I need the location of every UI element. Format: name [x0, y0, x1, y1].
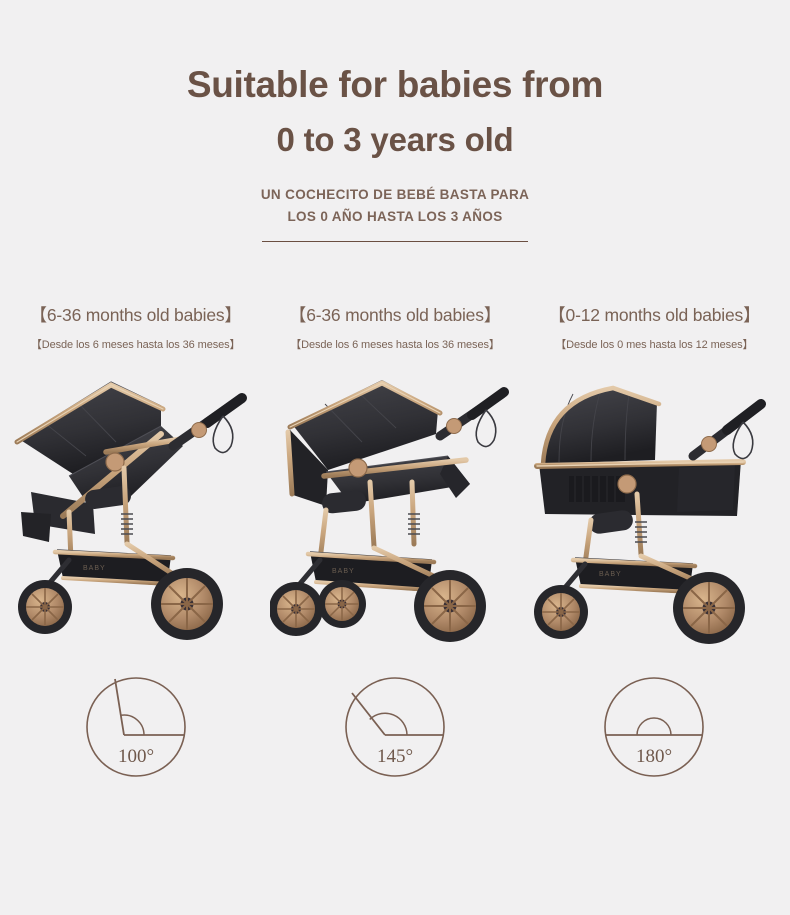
column-subtitle: 【Desde los 0 mes hasta los 12 meses】: [555, 336, 753, 352]
angle-label: 100°: [118, 746, 154, 767]
frame-hub: [349, 459, 367, 477]
mesh-window: [569, 476, 625, 502]
angle-diagram-180: 180°: [594, 667, 714, 787]
angle-diagrams: 100° 145° 180°: [0, 667, 790, 787]
wheel-rear: [151, 568, 223, 640]
handlebar: [693, 404, 761, 459]
wheel-front: [18, 580, 72, 634]
wheel-mid: [318, 580, 366, 628]
subtitle-line-2: LOS 0 AÑO HASTA LOS 3 AÑOS: [0, 206, 790, 228]
handlebar: [173, 398, 242, 453]
angle-arc: [637, 718, 671, 735]
angle-cell-3: 180°: [525, 667, 784, 787]
product-column-2: 【6-36 months old babies】 【Desde los 6 me…: [265, 302, 524, 649]
angle-diagram-100: 100°: [76, 667, 196, 787]
wheel-front: [270, 582, 323, 636]
handlebar-hub: [191, 422, 206, 437]
stroller-illustration-100: BABY: [11, 364, 261, 649]
angle-cell-1: 100°: [6, 667, 265, 787]
stroller-image-bassinet: BABY: [525, 364, 784, 649]
column-title: 【6-36 months old babies】: [30, 302, 242, 327]
svg-text:BABY: BABY: [83, 565, 106, 572]
header-divider: [262, 241, 528, 242]
product-column-1: 【6-36 months old babies】 【Desde los 6 me…: [6, 302, 265, 649]
headline-secondary: 0 to 3 years old: [0, 119, 790, 162]
stroller-illustration-145: BABY: [270, 364, 520, 649]
stroller-image-upright: BABY: [6, 364, 265, 649]
angle-label: 145°: [377, 746, 413, 767]
angle-cell-2: 145°: [265, 667, 524, 787]
column-subtitle: 【Desde los 6 meses hasta los 36 meses】: [290, 336, 500, 352]
subtitle-line-1: UN COCHECITO DE BEBÉ BASTA PARA: [0, 184, 790, 206]
wheel-front: [534, 585, 588, 639]
handlebar-hub: [446, 418, 461, 433]
stroller-illustration-180: BABY: [529, 364, 779, 649]
subtitle-block: UN COCHECITO DE BEBÉ BASTA PARA LOS 0 AÑ…: [0, 184, 790, 229]
wheel-rear: [414, 570, 486, 642]
handlebar-hub: [702, 436, 717, 451]
column-subtitle: 【Desde los 6 meses hasta los 36 meses】: [31, 336, 241, 352]
handlebar: [440, 392, 504, 447]
product-column-3: 【0-12 months old babies】 【Desde los 0 me…: [525, 302, 784, 649]
frame-post: [124, 468, 127, 542]
svg-text:BABY: BABY: [599, 571, 622, 578]
angle-diagram-145: 145°: [335, 667, 455, 787]
column-title: 【6-36 months old babies】: [289, 302, 501, 327]
product-columns: 【6-36 months old babies】 【Desde los 6 me…: [0, 302, 790, 649]
frame-hub: [618, 475, 636, 493]
angle-ray-tilted: [115, 679, 124, 735]
headline-primary: Suitable for babies from: [0, 62, 790, 108]
angle-label: 180°: [636, 746, 672, 767]
column-title: 【0-12 months old babies】: [548, 302, 760, 327]
header: Suitable for babies from 0 to 3 years ol…: [0, 0, 790, 242]
svg-text:BABY: BABY: [332, 568, 355, 575]
stroller-image-reclined: BABY: [265, 364, 524, 649]
frame-hub: [106, 453, 124, 471]
wheel-rear: [673, 572, 745, 644]
